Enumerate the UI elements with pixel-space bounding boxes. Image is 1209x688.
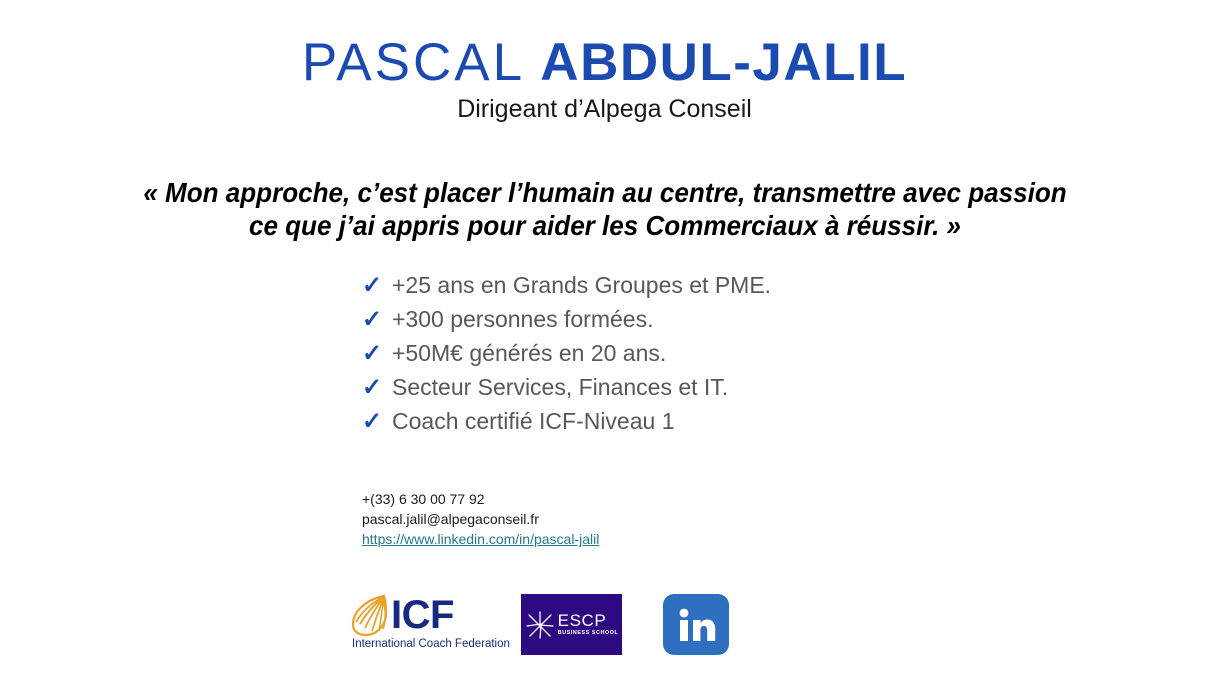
title-last-name: ABDUL-JALIL	[540, 33, 907, 92]
list-item-label: +25 ans en Grands Groupes et PME.	[392, 268, 771, 302]
list-item-label: Secteur Services, Finances et IT.	[392, 370, 728, 404]
quote-line-2: ce que j’ai appris pour aider les Commer…	[98, 209, 1112, 242]
list-item: ✓ +300 personnes formées.	[362, 302, 771, 336]
slide-canvas: PASCAL ABDUL-JALIL Dirigeant d’Alpega Co…	[0, 0, 1209, 688]
check-icon: ✓	[362, 303, 392, 337]
escp-tagline: BUSINESS SCHOOL	[558, 631, 619, 637]
linkedin-logo[interactable]	[663, 594, 729, 655]
page-title: PASCAL ABDUL-JALIL	[0, 33, 1209, 93]
phone-number: +(33) 6 30 00 77 92	[362, 489, 599, 509]
escp-star-icon	[525, 610, 555, 640]
highlights-list: ✓ +25 ans en Grands Groupes et PME. ✓ +3…	[362, 268, 771, 438]
escp-logo: ESCP BUSINESS SCHOOL	[521, 594, 622, 655]
list-item: ✓ Coach certifié ICF-Niveau 1	[362, 404, 771, 438]
check-icon: ✓	[362, 405, 392, 439]
icf-logo: ICF International Coach Federation	[350, 593, 490, 657]
quote-line-1: « Mon approche, c’est placer l’humain au…	[98, 176, 1112, 209]
list-item: ✓ +50M€ générés en 20 ans.	[362, 336, 771, 370]
list-item-label: +50M€ générés en 20 ans.	[392, 336, 666, 370]
linkedin-profile-link[interactable]: https://www.linkedin.com/in/pascal-jalil	[362, 529, 599, 549]
check-icon: ✓	[362, 337, 392, 371]
email-address: pascal.jalil@alpegaconseil.fr	[362, 509, 599, 529]
list-item: ✓ +25 ans en Grands Groupes et PME.	[362, 268, 771, 302]
page-subtitle: Dirigeant d’Alpega Conseil	[0, 93, 1209, 125]
list-item: ✓ Secteur Services, Finances et IT.	[362, 370, 771, 404]
list-item-label: Coach certifié ICF-Niveau 1	[392, 404, 675, 438]
list-item-label: +300 personnes formées.	[392, 302, 653, 336]
contact-block: +(33) 6 30 00 77 92 pascal.jalil@alpegac…	[362, 489, 599, 549]
check-icon: ✓	[362, 371, 392, 405]
check-icon: ✓	[362, 269, 392, 303]
linkedin-in-icon	[676, 605, 716, 645]
icf-caption: International Coach Federation	[352, 638, 510, 650]
escp-wordmark: ESCP	[558, 612, 619, 629]
title-first-name: PASCAL	[302, 33, 525, 92]
icf-swoosh-icon	[350, 594, 390, 636]
icf-wordmark: ICF	[391, 594, 454, 636]
quote-block: « Mon approche, c’est placer l’humain au…	[98, 176, 1112, 242]
